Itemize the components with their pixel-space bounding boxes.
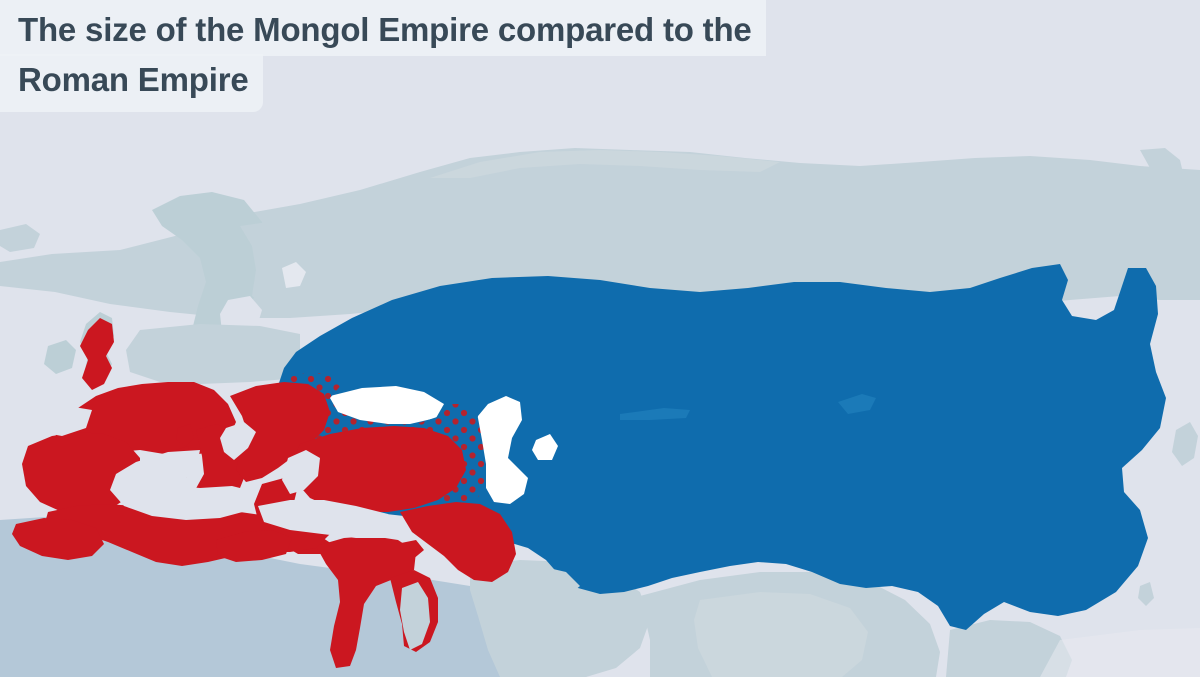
map-screenshot: The size of the Mongol Empire compared t… [0, 0, 1200, 677]
world-map [0, 0, 1200, 677]
landmass-central-europe [126, 324, 300, 384]
